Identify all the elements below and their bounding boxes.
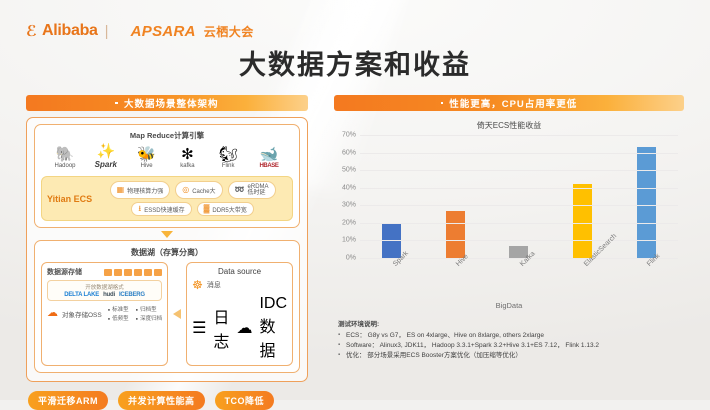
hudi-label: hudi [103, 292, 115, 298]
badge-tco-reduction: TCO降低 [215, 391, 275, 410]
chip-cache-label: Cache大 [192, 186, 215, 195]
logo-hive: 🐝 Hive [127, 147, 167, 169]
note-optimization: 优化： 部分场景采用ECS Booster方案优化（加压缩等优化） [338, 351, 684, 361]
message-label: 消息 [207, 280, 221, 290]
note-software: Software： Alinux3, JDK11， Hadoop 3.3.1+S… [338, 341, 684, 351]
log-label: 日志 [213, 304, 229, 352]
chart-gridline [360, 188, 678, 189]
iceberg-label: ICEBERG [119, 292, 145, 298]
file-icon-1 [104, 269, 112, 276]
mapreduce-engine-card: Map Reduce计算引擎 🐘 Hadoop ✨ Spark 🐝 Hive [34, 124, 300, 228]
badge-concurrent-performance: 并发计算性能高 [118, 391, 205, 410]
chart-gridline [360, 135, 678, 136]
chart-gridline [360, 170, 678, 171]
left-panel-header: 大数据场景整体架构 [26, 95, 308, 111]
notes-title: 测试环境说明: [338, 318, 684, 328]
data-storage-label: 数据源存储 [47, 267, 82, 277]
slide-background: ℰ Alibaba | APSARA 云栖大会 大数据方案和收益 大数据场景整体… [0, 0, 710, 400]
chip-row-2: ⭳ ESSD快速缓存 ▓ DDR5大带宽 [98, 202, 287, 216]
chart-x-tick: Kafka [487, 259, 551, 303]
flink-label: Flink [222, 163, 235, 169]
data-source-title: Data source [192, 267, 287, 276]
chart-plot-area: 0%10%20%30%40%50%60%70% [360, 135, 678, 258]
data-storage-header: 数据源存储 [47, 267, 162, 277]
file-icon-4 [134, 269, 142, 276]
data-source-items: ☸ 消息 ☰ 日志 ☁ IDC数据 [192, 279, 287, 361]
oss-tier-infrequent: 低频型 [108, 314, 129, 322]
ingest-arrow-left-icon [173, 262, 181, 366]
brand-divider: | [105, 23, 124, 40]
performance-chart: 倚天ECS性能收益 0%10%20%30%40%50%60%70% SparkH… [334, 120, 684, 310]
flow-arrow-up-icon [34, 231, 300, 238]
chip-row-1: ▦ 物理核算力强 ◎ Cache大 ➿ eRDMA [98, 181, 287, 199]
hbase-label: HBASE [259, 163, 278, 169]
oss-tier-standard: 标准型 [108, 305, 129, 313]
alibaba-wordmark: Alibaba [42, 22, 98, 40]
right-panel-header-label: 性能更高，CPU占用率更低 [449, 96, 577, 110]
chip-erdma-label: eRDMA 低时延 [248, 184, 269, 197]
badge-arm-migration: 平滑迁移ARM [28, 391, 108, 410]
chip-physical-core-label: 物理核算力强 [127, 186, 163, 195]
kafka-label: kafka [180, 163, 194, 169]
chip-physical-core: ▦ 物理核算力强 [110, 181, 171, 199]
chip-erdma-line2: 低时延 [248, 190, 269, 197]
data-source-log-idc: ☰ 日志 ☁ IDC数据 [192, 295, 287, 361]
chip-cache: ◎ Cache大 [175, 181, 222, 199]
chart-bar-elasticsearch[interactable] [573, 184, 592, 258]
page-title: 大数据方案和收益 [0, 43, 710, 82]
cpu-icon: ▦ [117, 186, 125, 194]
chip-essd-label: ESSD快速缓存 [144, 205, 184, 214]
file-icon-5 [144, 269, 152, 276]
logo-flink: 🐿 Flink [208, 147, 248, 169]
data-lake-title: 数据湖（存算分离） [41, 247, 293, 258]
alibaba-mark-icon: ℰ [26, 24, 37, 39]
file-type-icons [104, 269, 162, 276]
chart-x-tick: ElasticSearch [551, 259, 615, 303]
yitian-ecs-label: Yitian ECS [47, 194, 92, 204]
hive-icon: 🐝 [137, 147, 156, 162]
logo-hbase: 🐋 HBASE [249, 147, 289, 169]
kafka-icon: ✻ [181, 147, 194, 162]
delta-lake-label: DELTA LAKE [64, 292, 99, 298]
chart-x-tick: Hive [424, 259, 488, 303]
oss-cloud-icon: ☁ [47, 308, 58, 319]
chart-y-tick-label: 30% [342, 202, 356, 209]
hive-label: Hive [141, 163, 153, 169]
cache-icon: ◎ [182, 186, 189, 194]
chart-y-tick-label: 20% [342, 219, 356, 226]
flink-icon: 🐿 [219, 147, 238, 162]
chart-gridline [360, 223, 678, 224]
chart-y-tick-label: 70% [342, 132, 356, 139]
chart-y-tick-label: 0% [346, 255, 356, 262]
chart-y-tick-label: 50% [342, 167, 356, 174]
data-lake-card: 数据湖（存算分离） 数据源存储 [34, 240, 300, 373]
memory-icon: ▓ [204, 205, 210, 213]
hadoop-icon: 🐘 [56, 147, 75, 162]
architecture-diagram: Map Reduce计算引擎 🐘 Hadoop ✨ Spark 🐝 Hive [26, 117, 308, 382]
data-source-message: ☸ 消息 [192, 279, 287, 291]
notes-list: ECS： G8y vs G7， ES on 4xlarge、Hive on 8x… [338, 331, 684, 361]
apsara-wordmark: APSARA [131, 23, 196, 40]
chip-essd: ⭳ ESSD快速缓存 [131, 202, 191, 216]
logo-spark: ✨ Spark [86, 144, 126, 169]
yitian-ecs-band: Yitian ECS ▦ 物理核算力强 ◎ Cache大 [41, 176, 293, 221]
hadoop-label: Hadoop [54, 163, 75, 169]
network-icon: ➿ [235, 186, 245, 194]
data-lake-row: 数据源存储 开放数据湖格式 [41, 262, 293, 366]
file-icon-3 [124, 269, 132, 276]
apsara-cn-label: 云栖大会 [204, 23, 254, 40]
right-panel: 性能更高，CPU占用率更低 倚天ECS性能收益 0%10%20%30%40%50… [334, 95, 684, 361]
bullet-icon [115, 102, 118, 105]
test-environment-notes: 测试环境说明: ECS： G8y vs G7， ES on 4xlarge、Hi… [334, 318, 684, 361]
hbase-icon: 🐋 [260, 147, 279, 162]
yitian-feature-chips: ▦ 物理核算力强 ◎ Cache大 ➿ eRDMA [98, 181, 287, 216]
chart-gridline [360, 240, 678, 241]
chip-ddr5: ▓ DDR5大带宽 [197, 202, 254, 216]
chart-x-tick: Spark [360, 259, 424, 303]
chip-erdma: ➿ eRDMA 低时延 [228, 181, 276, 199]
bullet-icon [441, 102, 444, 105]
spark-label: Spark [95, 160, 117, 169]
open-lake-format-box: 开放数据湖格式 DELTA LAKE hudi ICEBERG [47, 280, 162, 301]
mapreduce-engine-title: Map Reduce计算引擎 [41, 130, 293, 141]
idc-cloud-icon: ☁ [236, 318, 252, 338]
oss-tier-list: 标准型 归档型 低频型 深度归档 [108, 305, 162, 322]
brand-logo: ℰ Alibaba | APSARA 云栖大会 [26, 22, 254, 40]
chart-y-tick-label: 60% [342, 149, 356, 156]
oss-tier-deep-archive: 深度归档 [136, 314, 162, 322]
chart-title: 倚天ECS性能收益 [334, 120, 684, 131]
chart-x-tick: Flink [614, 259, 678, 303]
file-icon-6 [154, 269, 162, 276]
chart-gridline [360, 153, 678, 154]
log-icon: ☰ [192, 318, 206, 338]
logo-kafka: ✻ kafka [167, 147, 207, 169]
open-lake-format-logos: DELTA LAKE hudi ICEBERG [51, 292, 158, 298]
logo-hadoop: 🐘 Hadoop [45, 147, 85, 169]
data-source-box: Data source ☸ 消息 ☰ 日志 ☁ IDC数据 [186, 262, 293, 366]
message-icon: ☸ [192, 279, 203, 291]
chart-y-tick-label: 40% [342, 184, 356, 191]
right-panel-header: 性能更高，CPU占用率更低 [334, 95, 684, 111]
oss-row: ☁ 对象存储OSS 标准型 归档型 低频型 深度归档 [47, 305, 162, 322]
chart-y-tick-label: 10% [342, 237, 356, 244]
file-icon-2 [114, 269, 122, 276]
spark-icon: ✨ [96, 144, 115, 159]
data-storage-box: 数据源存储 开放数据湖格式 [41, 262, 168, 366]
open-lake-format-caption: 开放数据湖格式 [51, 283, 158, 291]
benefit-badges: 平滑迁移ARM 并发计算性能高 TCO降低 [26, 391, 308, 410]
chart-bar-hive[interactable] [446, 211, 465, 258]
note-ecs: ECS： G8y vs G7， ES on 4xlarge、Hive on 8x… [338, 331, 684, 341]
left-panel-header-label: 大数据场景整体架构 [124, 96, 219, 110]
oss-tier-archive: 归档型 [136, 305, 157, 313]
chart-x-axis: SparkHiveKafkaElasticSearchFlink [360, 258, 678, 303]
chip-ddr5-label: DDR5大带宽 [212, 205, 246, 214]
engine-logo-row: 🐘 Hadoop ✨ Spark 🐝 Hive ✻ kafka [41, 144, 293, 171]
idc-label: IDC数据 [259, 295, 287, 361]
left-panel: 大数据场景整体架构 Map Reduce计算引擎 🐘 Hadoop ✨ Spar… [26, 95, 308, 410]
chart-gridline [360, 205, 678, 206]
disk-icon: ⭳ [138, 205, 141, 213]
oss-label: 对象存储OSS [62, 309, 102, 319]
